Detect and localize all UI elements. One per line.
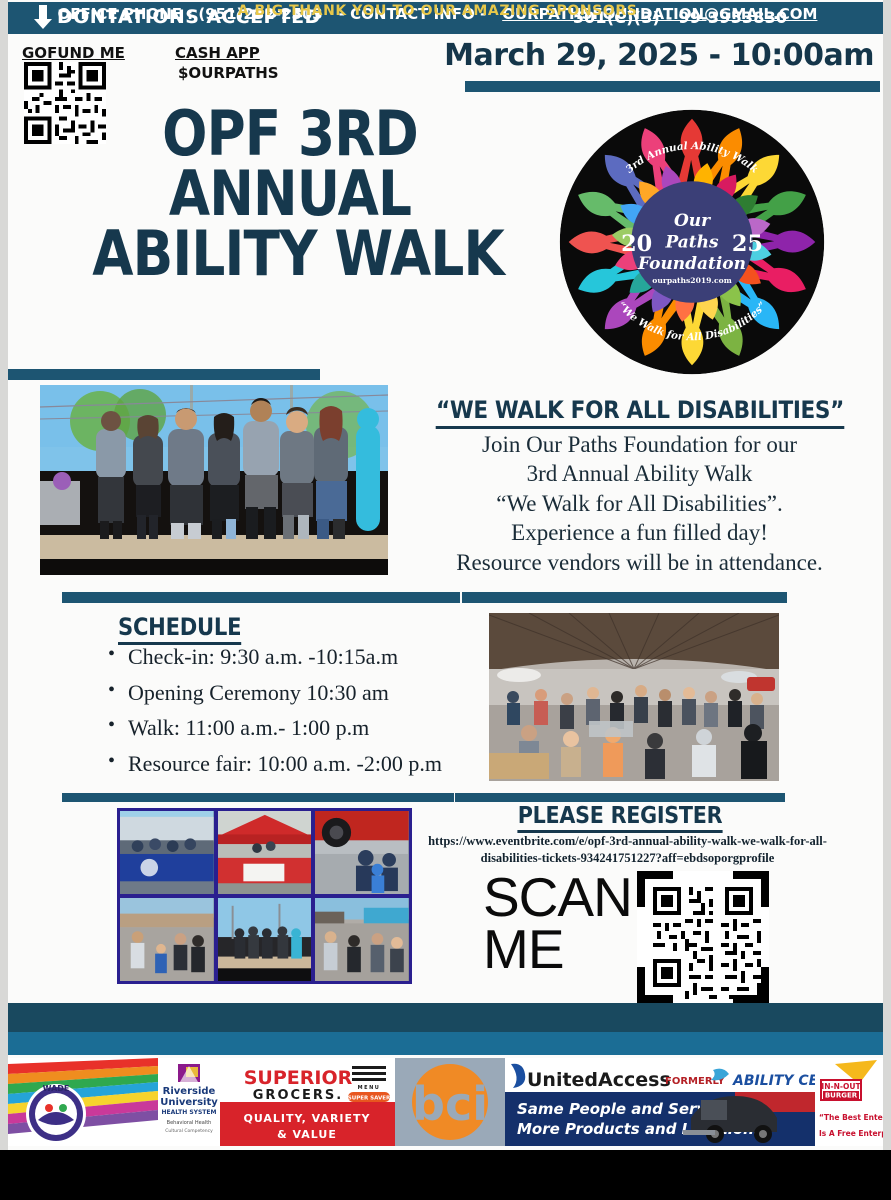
team-group-photo-on-stage [40,385,388,575]
divider-register [455,793,785,802]
riverside-line-5: Cultural Competency [165,1128,213,1134]
gofundme-label: GOFUND ME [22,44,125,62]
wade-label: WADE [43,1084,70,1093]
divider-collage [62,793,454,802]
superior-line-1: SUPERIOR [244,1067,353,1089]
collage-photo-3 [315,811,409,894]
in-n-out-line-2: BURGER [825,1092,858,1100]
photo-collage [117,808,412,984]
description-line-1: Join Our Paths Foundation for our [392,430,887,459]
bci-label: bci [412,1077,488,1131]
date-underline-bar [465,81,880,92]
cashapp-handle: $OURPATHS [178,64,279,82]
bottom-black-border [0,1150,891,1200]
superior-saver-badge: SUPER SAVER [348,1096,391,1102]
logo-center-line-2: Paths [664,232,718,252]
sponsor-strip: WADE Riverside University HEALTH SYSTEM … [8,1058,883,1146]
register-url[interactable]: https://www.eventbrite.com/e/opf-3rd-ann… [425,833,830,867]
divider-schedule-right [462,592,787,603]
riverside-line-3: HEALTH SYSTEM [162,1109,217,1116]
sponsor-in-n-out-logo: IN-N-OUT BURGER “The Best Enterprise Is … [815,1058,883,1146]
description-line-4: Experience a fun filled day! [392,518,887,547]
resource-fair-crowd-photo [489,613,779,781]
sponsor-wade-logo: WADE [8,1058,158,1146]
register-qr-icon[interactable] [637,871,769,1003]
scan-line-1: SCAN [483,872,632,924]
event-date: March 29, 2025 - 10:00am [444,38,874,73]
page-left-edge [0,0,8,1150]
title-line-1: OPF 3RD [92,104,488,164]
sponsor-bci-logo: bci [395,1058,505,1146]
scan-line-2: ME [483,924,632,976]
sponsors-banner-text: A BIG THANK YOU TO OUR AMAZING SPONSORS [0,3,875,19]
collage-photo-6 [315,898,409,981]
sponsors-banner-bar [8,1032,883,1055]
flyer-sheet: DONTATIONS ACCEPTED 501(C)(3) - 99-39538… [0,0,891,1150]
logo-center-line-3: Foundation [637,254,746,274]
ability-center-label: ABILITY CENTER [732,1073,815,1089]
our-paths-foundation-ribbon-logo: 3rd Annual Ability Walk “We Walk for All… [538,108,846,376]
superior-line-3: QUALITY, VARIETY [243,1112,370,1125]
schedule-heading: SCHEDULE [118,613,241,641]
riverside-line-2: University [160,1097,218,1108]
contact-bar [8,1003,883,1032]
collage-photo-1 [120,811,214,894]
collage-photo-5 [218,898,312,981]
in-n-out-line-1: IN-N-OUT [821,1082,861,1091]
sponsor-superior-grocers-logo: SUPERIOR GROCERS. MENU SUPER SAVER QUALI… [220,1058,395,1146]
sponsor-riverside-logo: Riverside University HEALTH SYSTEM Behav… [158,1058,220,1146]
description-line-2: 3rd Annual Ability Walk [392,459,887,488]
riverside-line-1: Riverside [163,1086,216,1097]
in-n-out-tagline-1: “The Best Enterprise [819,1113,883,1122]
schedule-item: Walk: 11:00 a.m.- 1:00 p.m [104,716,524,741]
schedule-item: Check-in: 9:30 a.m. -10:15a.m [104,645,524,670]
superior-menu-label: MENU [358,1085,381,1091]
in-n-out-tagline-2: Is A Free Enterprise ®” [819,1129,883,1138]
description-body: Join Our Paths Foundation for our 3rd An… [392,430,887,577]
scan-me-label: SCAN ME [483,872,632,975]
schedule-item: Resource fair: 10:00 a.m. -2:00 p.m [104,752,524,777]
collage-photo-4 [120,898,214,981]
title-line-3: ABILITY WALK [92,224,488,284]
register-heading: PLEASE REGISTER [472,803,769,829]
event-date-box: March 29, 2025 - 10:00am [462,38,882,74]
title-line-2: ANNUAL [92,164,488,224]
superior-line-2: GROCERS. [253,1088,343,1103]
logo-center-line-1: Our [674,211,711,231]
superior-line-4: & VALUE [277,1128,337,1141]
page-title: OPF 3RD ANNUAL ABILITY WALK [92,104,488,284]
divider-schedule [62,592,460,603]
schedule-item: Opening Ceremony 10:30 am [104,681,524,706]
collage-photo-2 [218,811,312,894]
sponsor-united-access-logo: UnitedAccess FORMERLY ABILITY CENTER Sam… [505,1058,815,1146]
united-access-label: UnitedAccess [527,1069,671,1091]
logo-website: ourpaths2019.com [652,276,731,285]
description-line-5: Resource vendors will be in attendance. [392,548,887,577]
cashapp-label: CASH APP [175,44,260,62]
riverside-line-4: Behavioral Health [167,1120,212,1126]
schedule-list: Check-in: 9:30 a.m. -10:15a.m Opening Ce… [104,645,524,788]
divider-top [8,369,320,380]
description-heading: “WE WALK FOR ALL DISABILITIES” [420,396,861,424]
flyer-page: DONTATIONS ACCEPTED 501(C)(3) - 99-39538… [0,0,891,1200]
description-line-3: “We Walk for All Disabilities”. [392,489,887,518]
